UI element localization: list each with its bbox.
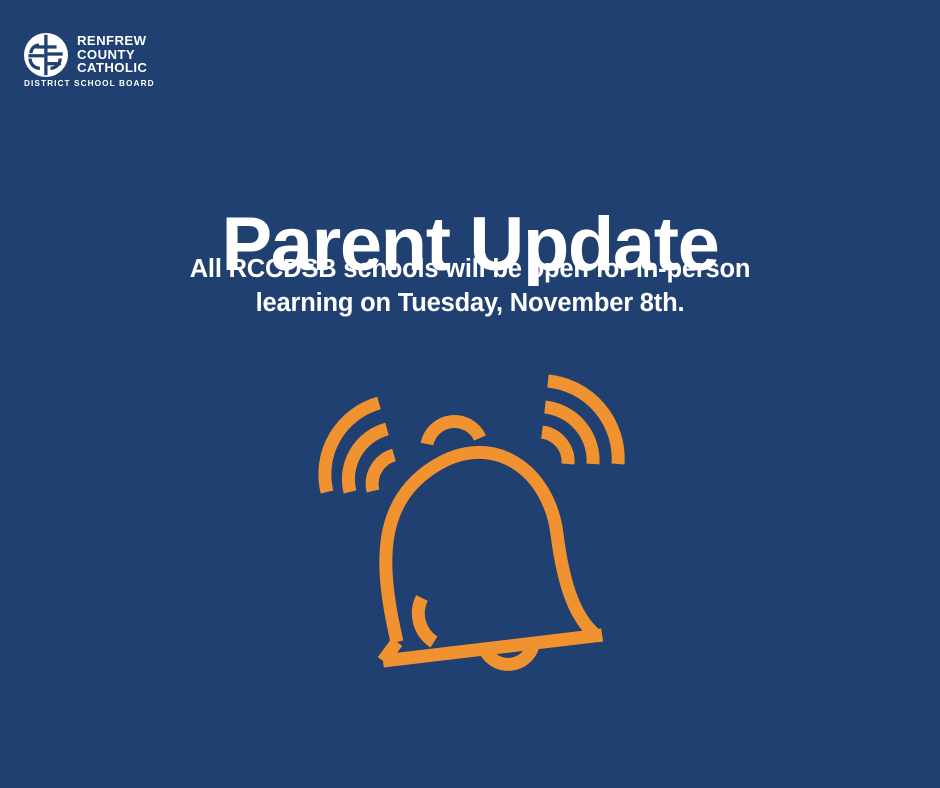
board-logo-tagline: DISTRICT SCHOOL BOARD (24, 78, 155, 88)
board-logo-line-1: RENFREW (77, 34, 147, 48)
bell-wave-left-inner (372, 455, 394, 491)
board-logo-line-3: CATHOLIC (77, 61, 147, 75)
board-logo: RENFREW COUNTY CATHOLIC (24, 33, 147, 77)
board-logo-wordmark: RENFREW COUNTY CATHOLIC (77, 33, 147, 75)
bell-wave-right-inner (542, 432, 568, 464)
announcement-line-1: All RCCDSB schools will be open for in-p… (180, 252, 760, 286)
parent-update-poster: RENFREW COUNTY CATHOLIC DISTRICT SCHOOL … (0, 0, 940, 788)
bell-right-corner (597, 635, 602, 636)
rccdsb-circle-cross-monogram-icon (24, 33, 68, 77)
announcement-message: All RCCDSB schools will be open for in-p… (180, 252, 760, 320)
bell-inner-highlight-arc (418, 598, 434, 642)
ringing-bell-icon (305, 352, 645, 692)
announcement-line-2: learning on Tuesday, November 8th. (180, 286, 760, 320)
board-logo-line-2: COUNTY (77, 48, 147, 62)
bell-handle-loop (427, 421, 480, 444)
